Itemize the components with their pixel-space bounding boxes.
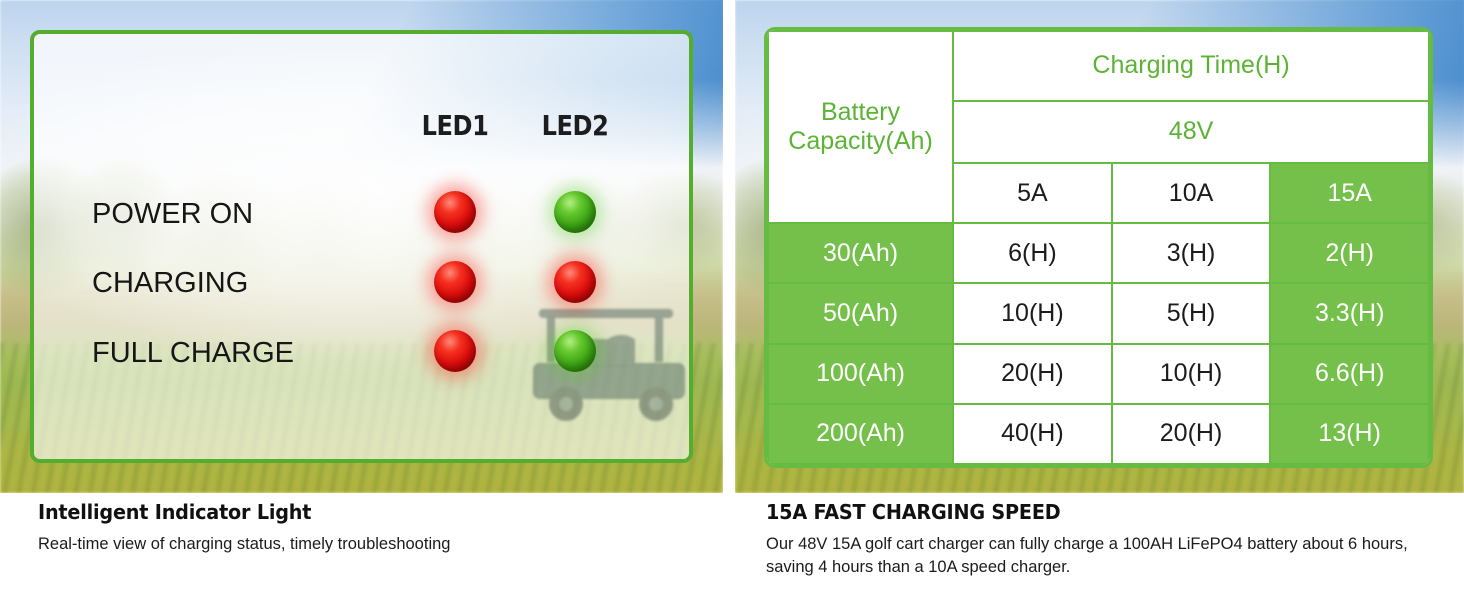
led-indicator-row3-col1 <box>434 330 476 372</box>
cell-100ah-5a: 20(H) <box>953 344 1112 404</box>
header-voltage-48v: 48V <box>953 101 1429 163</box>
charging-time-table-wrapper: Battery Capacity(Ah) Charging Time(H) 48… <box>767 30 1430 465</box>
table-row: 200(Ah) 40(H) 20(H) 13(H) <box>768 404 1429 464</box>
header-current-10a: 10A <box>1112 163 1271 223</box>
led-indicator-row2-col1 <box>434 261 476 303</box>
led-indicator-row3-col2 <box>554 330 596 372</box>
table-header-row-1: Battery Capacity(Ah) Charging Time(H) <box>768 31 1429 101</box>
caption-left: Intelligent Indicator Light Real-time vi… <box>38 500 728 556</box>
charging-speed-panel: Battery Capacity(Ah) Charging Time(H) 48… <box>735 0 1464 493</box>
header-current-15a: 15A <box>1270 163 1429 223</box>
charging-time-table: Battery Capacity(Ah) Charging Time(H) 48… <box>767 30 1430 465</box>
cell-30ah-10a: 3(H) <box>1112 223 1271 283</box>
row-capacity-50ah: 50(Ah) <box>768 283 953 343</box>
header-current-5a: 5A <box>953 163 1112 223</box>
row-capacity-200ah: 200(Ah) <box>768 404 953 464</box>
cell-30ah-5a: 6(H) <box>953 223 1112 283</box>
caption-right: 15A FAST CHARGING SPEED Our 48V 15A golf… <box>766 500 1446 579</box>
row-capacity-30ah: 30(Ah) <box>768 223 953 283</box>
table-row: 30(Ah) 6(H) 3(H) 2(H) <box>768 223 1429 283</box>
header-battery-capacity: Battery Capacity(Ah) <box>768 31 953 223</box>
led-indicator-row1-col1 <box>434 191 476 233</box>
cell-50ah-15a: 3.3(H) <box>1270 283 1429 343</box>
led-column-label-1: LED1 <box>408 109 503 142</box>
cell-50ah-10a: 5(H) <box>1112 283 1271 343</box>
cell-200ah-10a: 20(H) <box>1112 404 1271 464</box>
caption-left-title: Intelligent Indicator Light <box>38 500 700 524</box>
table-row: 50(Ah) 10(H) 5(H) 3.3(H) <box>768 283 1429 343</box>
indicator-light-panel: LED1 LED2 POWER ON CHARGING FULL CHARGE <box>0 0 723 493</box>
product-feature-page: LED1 LED2 POWER ON CHARGING FULL CHARGE … <box>0 0 1464 600</box>
cell-200ah-15a: 13(H) <box>1270 404 1429 464</box>
header-charging-time: Charging Time(H) <box>953 31 1429 101</box>
led-column-label-2: LED2 <box>528 109 623 142</box>
caption-right-body: Our 48V 15A golf cart charger can fully … <box>766 533 1426 579</box>
cell-100ah-15a: 6.6(H) <box>1270 344 1429 404</box>
golf-cart-illustration <box>504 284 693 434</box>
led-indicator-row2-col2 <box>554 261 596 303</box>
caption-right-title: 15A FAST CHARGING SPEED <box>766 500 1419 524</box>
caption-left-body: Real-time view of charging status, timel… <box>38 533 707 556</box>
row-capacity-100ah: 100(Ah) <box>768 344 953 404</box>
cell-100ah-10a: 10(H) <box>1112 344 1271 404</box>
status-label-charging: CHARGING <box>92 267 248 300</box>
cell-30ah-15a: 2(H) <box>1270 223 1429 283</box>
header-battery-capacity-line1: Battery <box>821 98 900 126</box>
led-status-frame <box>30 30 693 463</box>
cell-200ah-5a: 40(H) <box>953 404 1112 464</box>
status-label-power-on: POWER ON <box>92 198 253 231</box>
status-label-full-charge: FULL CHARGE <box>92 337 294 370</box>
header-battery-capacity-line2: Capacity(Ah) <box>788 127 933 155</box>
table-row: 100(Ah) 20(H) 10(H) 6.6(H) <box>768 344 1429 404</box>
cell-50ah-5a: 10(H) <box>953 283 1112 343</box>
led-indicator-row1-col2 <box>554 191 596 233</box>
